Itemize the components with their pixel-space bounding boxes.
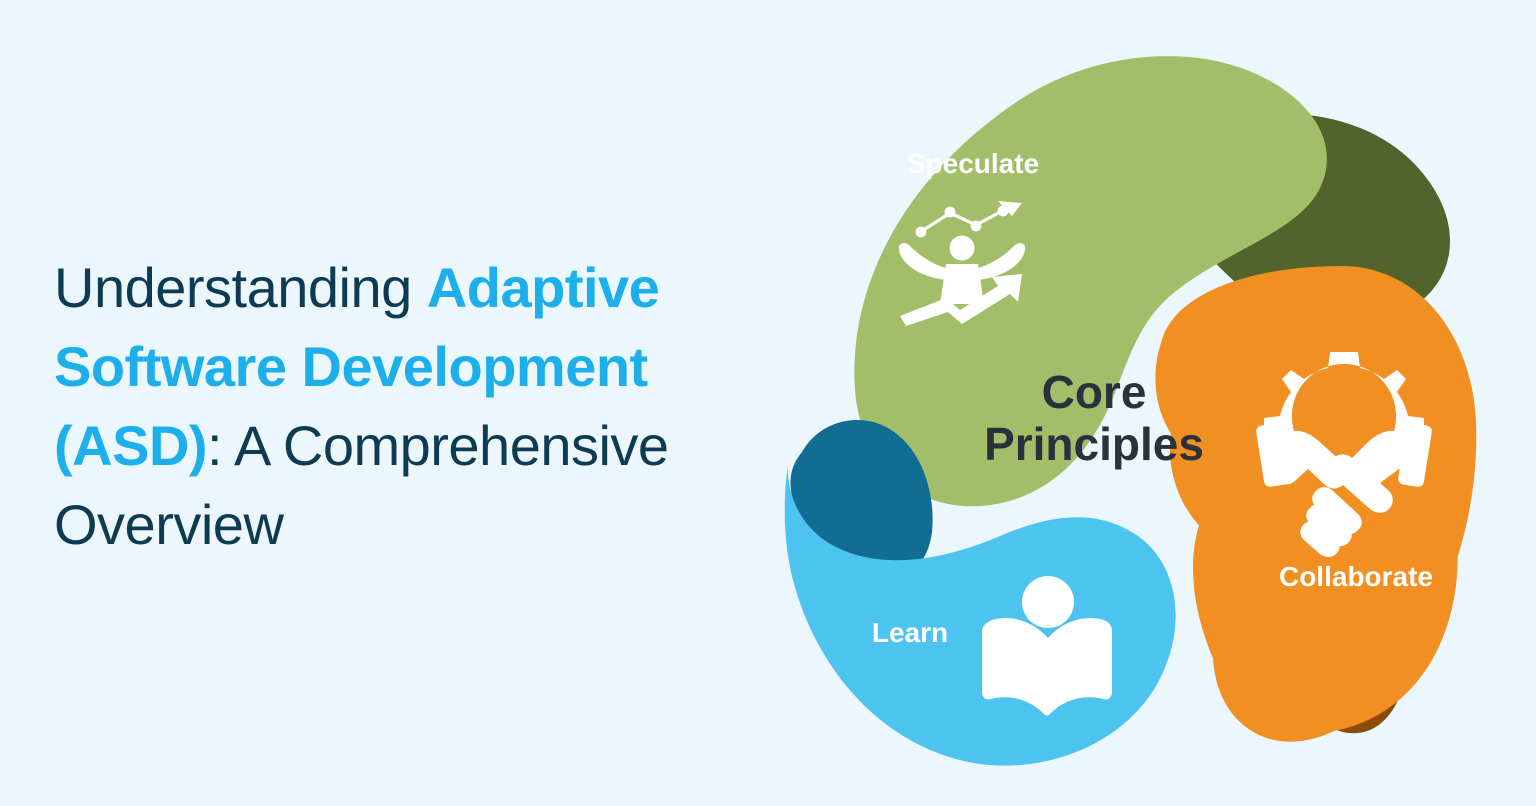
title-segment-plain-2: : A Comprehensive [207, 414, 669, 477]
core-principles-diagram: Speculate [760, 20, 1536, 790]
page-title: Understanding Adaptive Software Developm… [54, 248, 774, 564]
title-segment-plain-3: Overview [54, 493, 283, 556]
title-block: Understanding Adaptive Software Developm… [54, 248, 774, 564]
title-segment-accent-1: Adaptive [427, 256, 660, 319]
center-label-line-1: Core [1042, 366, 1147, 418]
center-label-line-2: Principles [984, 418, 1204, 470]
title-segment-accent-2: Software Development [54, 335, 648, 398]
collaborate-label: Collaborate [1279, 561, 1433, 592]
speculate-label: Speculate [907, 148, 1039, 179]
title-segment-plain-1: Understanding [54, 256, 427, 319]
title-segment-accent-3: (ASD) [54, 414, 207, 477]
learn-label: Learn [872, 617, 948, 648]
diagram-node-collaborate[interactable]: Collaborate [1155, 266, 1476, 742]
slide-canvas: Understanding Adaptive Software Developm… [0, 0, 1536, 806]
